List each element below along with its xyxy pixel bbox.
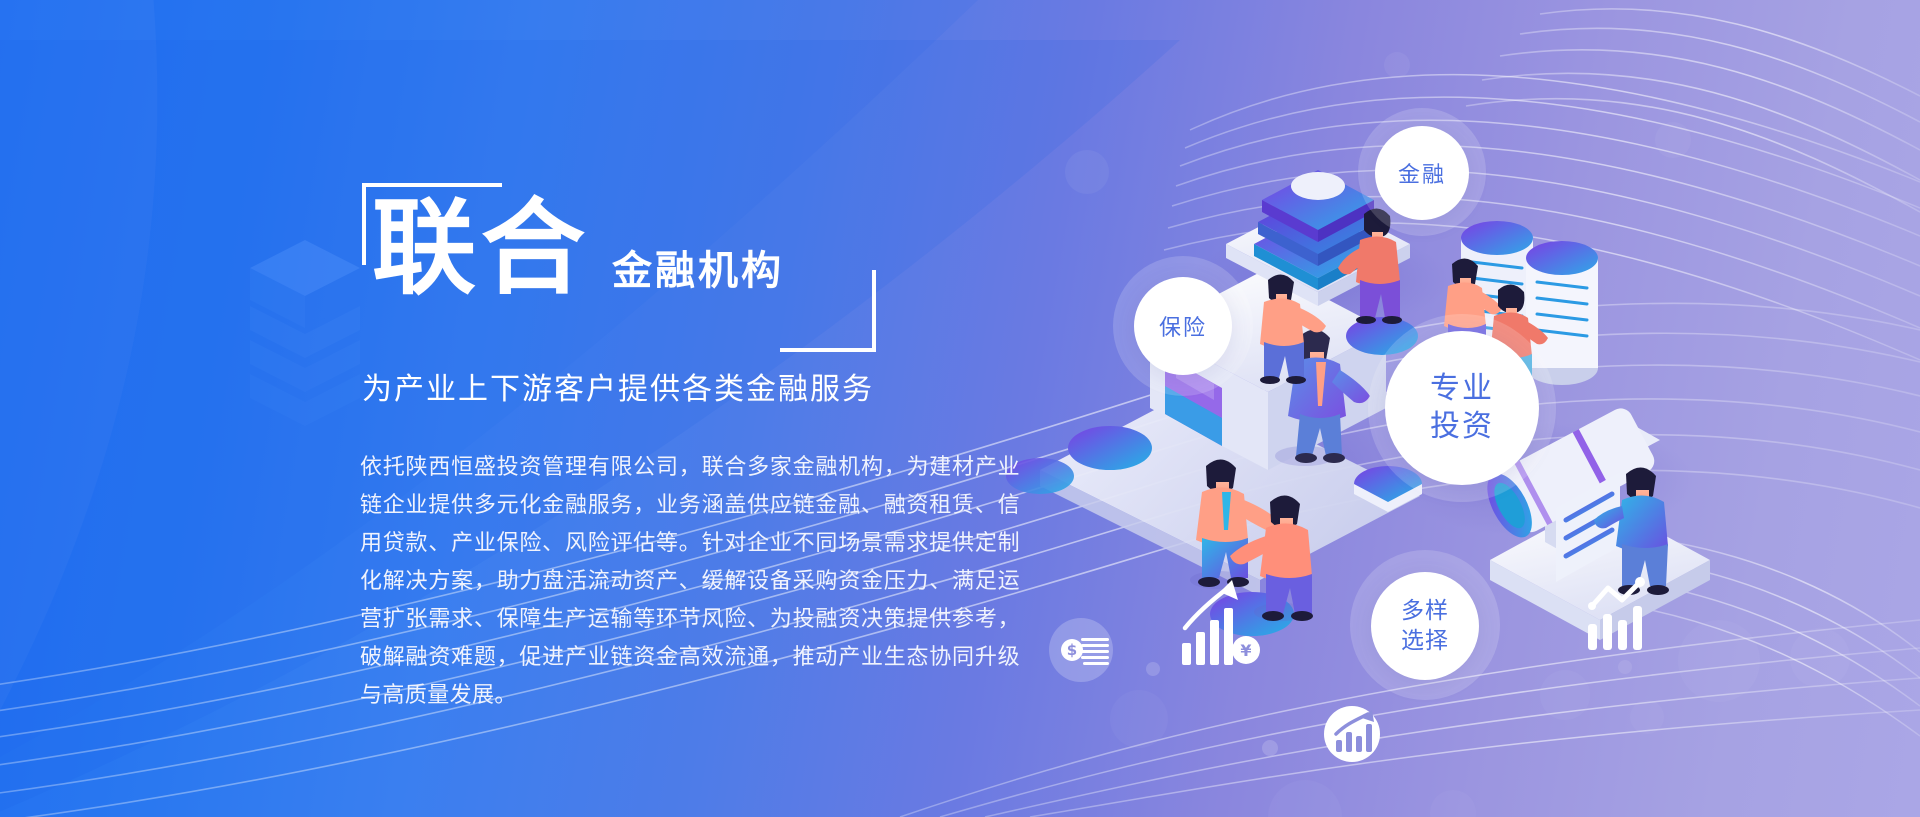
person-at-database-a xyxy=(1444,258,1502,366)
bubble-insurance[interactable]: 保险 xyxy=(1134,277,1232,375)
wave-lines-bottom-fan xyxy=(900,620,1920,817)
wave-lines-upper-right xyxy=(1164,75,1920,360)
database-cylinders xyxy=(1461,221,1598,385)
bubble-diverse-choice-line-1: 选择 xyxy=(1401,626,1449,656)
dot xyxy=(1065,150,1109,194)
person-suit-standing xyxy=(1275,329,1370,466)
wave-lines-mid-right xyxy=(1632,540,1920,736)
money-bill-icon: $ xyxy=(1049,618,1113,682)
paper-roll-machine xyxy=(1478,404,1710,640)
dot xyxy=(1618,660,1632,674)
title-row: 联合 金融机构 xyxy=(372,196,784,300)
insurance-bubble-halo xyxy=(1113,256,1253,396)
dot xyxy=(1430,790,1476,817)
bubble-professional-investment[interactable]: 专业 投资 xyxy=(1385,331,1539,485)
person-at-roll xyxy=(1594,467,1669,595)
text-content-block: 联合 金融机构 为产业上下游客户提供各类金融服务 依托陕西恒盛投资管理有限公司，… xyxy=(0,0,1000,817)
svg-text:$: $ xyxy=(1067,641,1077,659)
dot xyxy=(1790,628,1850,688)
finance-bubble-halo xyxy=(1358,108,1486,236)
dot xyxy=(1630,700,1664,734)
bubble-finance[interactable]: 金融 xyxy=(1375,126,1469,220)
svg-text:¥: ¥ xyxy=(1240,641,1251,660)
dot xyxy=(1678,620,1760,702)
person-handoff-left xyxy=(1190,459,1280,589)
bubble-insurance-line-0: 保险 xyxy=(1159,310,1207,342)
dot xyxy=(1146,662,1160,676)
person-at-discs-right xyxy=(1338,208,1402,324)
growth-chart-yen-icon: ¥ xyxy=(1182,580,1260,665)
wave-lines-top xyxy=(1466,9,1920,212)
financial-services-banner: $ ¥ xyxy=(0,0,1920,817)
page-title-sub: 金融机构 xyxy=(612,251,784,300)
bubble-diverse-choice-line-0: 多样 xyxy=(1401,596,1449,626)
layered-discs xyxy=(1254,170,1382,290)
bubble-professional-investment-line-0: 专业 xyxy=(1430,370,1494,408)
page-subtitle: 为产业上下游客户提供各类金融服务 xyxy=(362,364,874,408)
bracket-bottom-right-decor xyxy=(780,270,876,352)
growth-chart-circle-icon xyxy=(1324,706,1380,762)
dot xyxy=(1384,52,1410,78)
person-at-database-b xyxy=(1490,284,1548,398)
dot xyxy=(1268,780,1342,817)
diverse-choice-bubble-halo xyxy=(1350,550,1500,700)
page-title-main: 联合 xyxy=(372,196,590,300)
dot xyxy=(1655,122,1691,158)
professional-investment-bubble-halo xyxy=(1368,314,1556,502)
dot xyxy=(1110,690,1168,748)
bubble-professional-investment-line-1: 投资 xyxy=(1430,408,1494,446)
person-handoff-right xyxy=(1230,495,1313,621)
body-paragraph: 依托陕西恒盛投资管理有限公司，联合多家金融机构，为建材产业链企业提供多元化金融服… xyxy=(360,449,1020,715)
dot xyxy=(1262,740,1278,756)
isometric-illustration xyxy=(1006,170,1710,640)
person-at-discs-left xyxy=(1260,274,1326,384)
bar-line-chart-icon xyxy=(1588,577,1645,650)
dot xyxy=(1540,670,1590,720)
bubble-finance-line-0: 金融 xyxy=(1398,157,1446,189)
bubble-diverse-choice[interactable]: 多样 选择 xyxy=(1371,572,1479,680)
